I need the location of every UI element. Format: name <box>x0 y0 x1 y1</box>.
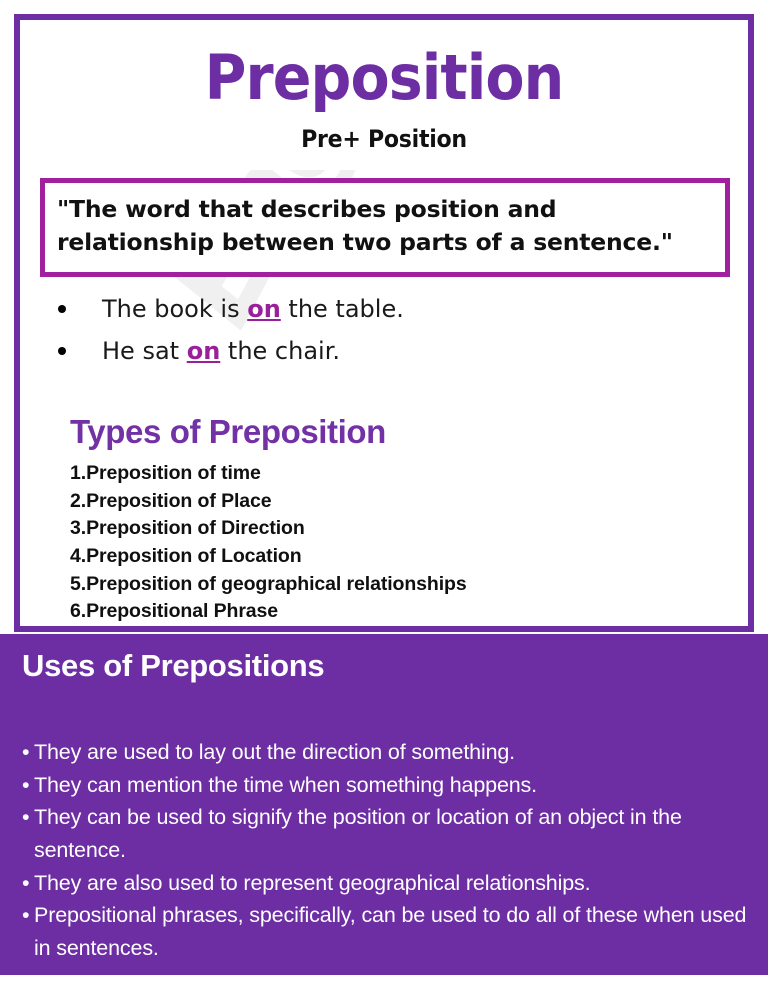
examples-list: The book is on the table. He sat on the … <box>40 292 640 376</box>
top-white-card: Preposition Pre+ Position "The word that… <box>14 14 754 632</box>
list-item: Prepositional phrases, specifically, can… <box>22 899 754 964</box>
example-preposition-highlight: on <box>247 295 281 323</box>
list-item: 3.Preposition of Direction <box>70 515 690 543</box>
list-item: They can be used to signify the position… <box>22 801 754 866</box>
definition-text: "The word that describes position and re… <box>57 193 713 260</box>
uses-list: They are used to lay out the direction o… <box>0 684 768 965</box>
example-preposition-highlight: on <box>187 337 221 365</box>
list-item: 2.Preposition of Place <box>70 488 690 516</box>
list-item: They are used to lay out the direction o… <box>22 736 754 769</box>
page-subtitle: Pre+ Position <box>49 109 719 153</box>
types-heading: Types of Preposition <box>70 413 386 451</box>
list-item: They are also used to represent geograph… <box>22 867 754 900</box>
types-list: 1.Preposition of time 2.Preposition of P… <box>70 460 690 626</box>
page-title: Preposition <box>49 20 719 109</box>
example-text-before: He sat <box>102 337 187 365</box>
example-text-after: the chair. <box>220 337 340 365</box>
list-item: The book is on the table. <box>40 292 640 327</box>
list-item: 6.Prepositional Phrase <box>70 598 690 626</box>
list-item: He sat on the chair. <box>40 334 640 369</box>
example-text-before: The book is <box>102 295 247 323</box>
example-text-after: the table. <box>281 295 404 323</box>
uses-heading: Uses of Prepositions <box>0 634 768 684</box>
preposition-infographic: Englishers Preposition Pre+ Position "Th… <box>0 0 768 1002</box>
list-item: 4.Preposition of Location <box>70 543 690 571</box>
uses-section: Uses of Prepositions They are used to la… <box>0 634 768 975</box>
list-item: They can mention the time when something… <box>22 769 754 802</box>
list-item: 5.Preposition of geographical relationsh… <box>70 571 690 599</box>
list-item: 1.Preposition of time <box>70 460 690 488</box>
definition-box: "The word that describes position and re… <box>40 178 730 277</box>
